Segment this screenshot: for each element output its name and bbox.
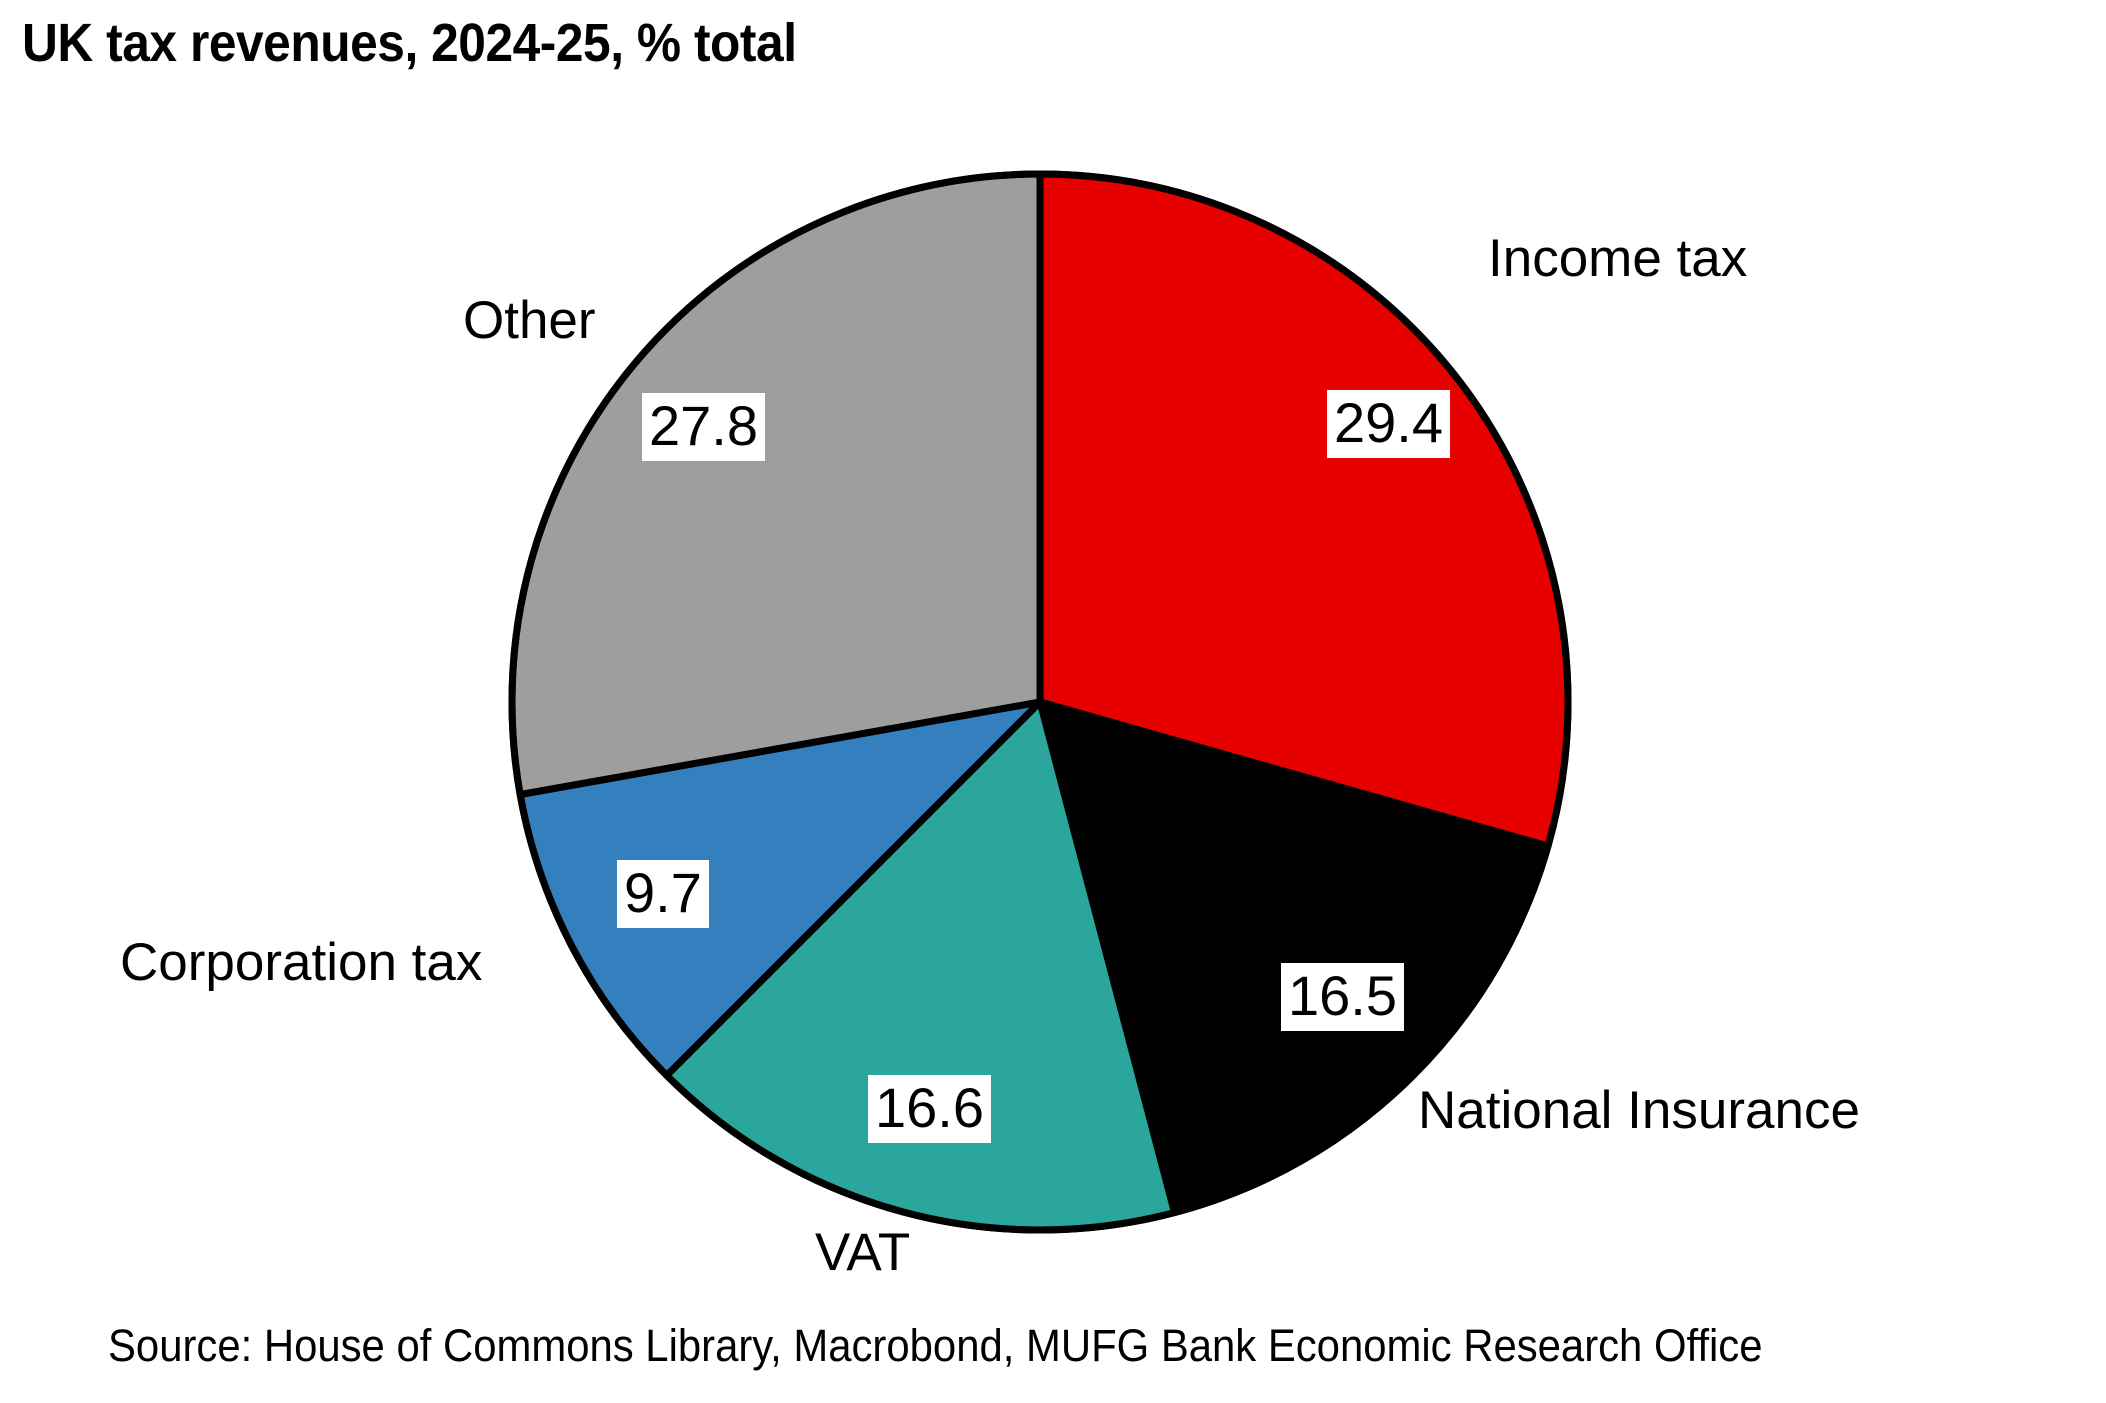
chart-canvas: UK tax revenues, 2024-25, % total Income… [0,0,2106,1403]
pie-chart-graphic [0,0,2106,1403]
slice-value-corporation-tax: 9.7 [617,860,709,928]
slice-label-national-insurance: National Insurance [1418,1080,1860,1142]
slice-value-income-tax: 29.4 [1327,390,1450,458]
source-note: Source: House of Commons Library, Macrob… [108,1318,1763,1374]
slice-value-vat: 16.6 [868,1075,991,1143]
slice-label-other: Other [463,290,596,352]
pie-slice-group [512,174,1568,1230]
slice-label-corporation-tax: Corporation tax [120,932,482,994]
slice-label-vat: VAT [815,1222,910,1284]
slice-label-income-tax: Income tax [1488,228,1747,290]
slice-value-other: 27.8 [642,393,765,461]
slice-value-national-insurance: 16.5 [1281,963,1404,1031]
pie-slice-other[interactable] [512,174,1040,795]
